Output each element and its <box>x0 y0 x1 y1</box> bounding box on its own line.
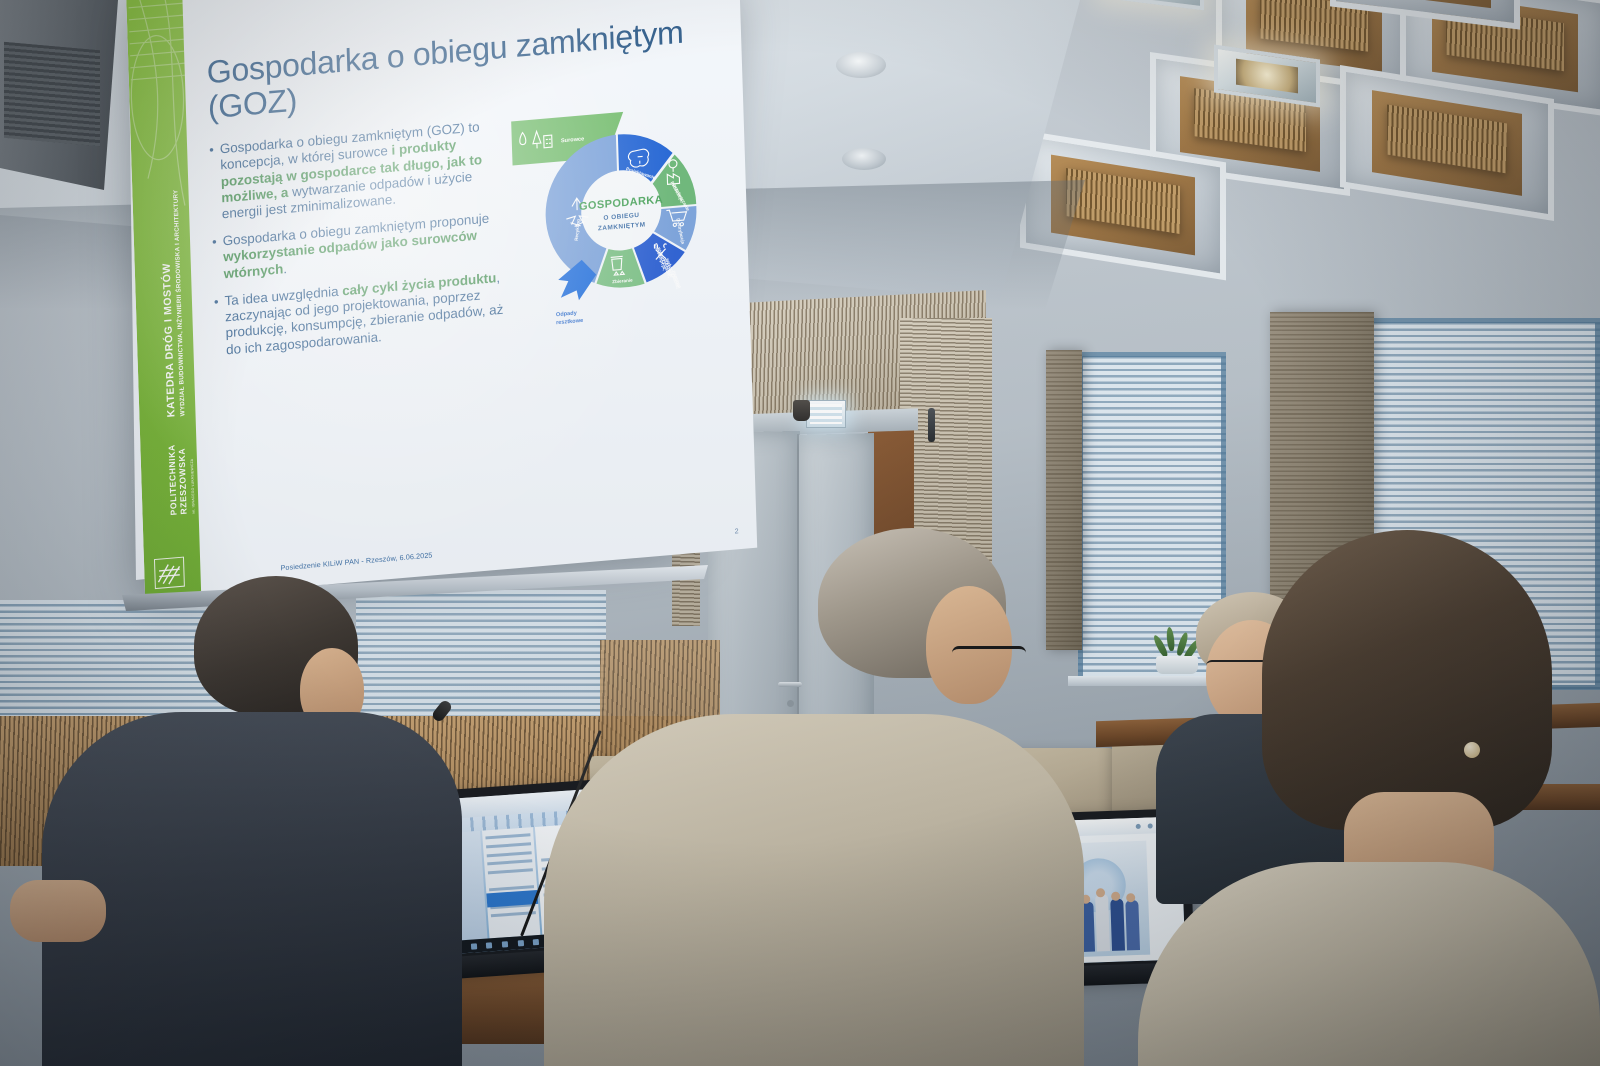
earring <box>1464 742 1480 758</box>
ceiling-beam <box>0 0 118 190</box>
label-odpady-1: Odpady <box>556 310 578 318</box>
mail-list-pane[interactable] <box>482 827 540 939</box>
torso <box>544 714 1084 1066</box>
bullet-1-text: Gospodarka o obiegu zamkniętym (GOZ) to … <box>220 117 512 223</box>
plant-pot <box>1156 656 1198 674</box>
head <box>926 586 1012 704</box>
slide-bullet-1: • Gospodarka o obiegu zamkniętym (GOZ) t… <box>209 117 512 224</box>
hand <box>10 880 106 942</box>
slide-bullet-3: • Ta idea uwzględnia cały cykl życia pro… <box>214 269 516 360</box>
goz-svg: Surowce <box>505 87 739 406</box>
door-seam <box>797 434 799 752</box>
ceiling-speaker-icon <box>836 52 886 78</box>
camera-icon <box>793 400 810 421</box>
ceiling-light <box>1100 0 1204 10</box>
ceiling-vent <box>4 42 100 146</box>
emergency-light-icon <box>806 400 846 428</box>
torso <box>42 712 462 1066</box>
door-lock-icon <box>787 700 794 707</box>
university-logo-icon <box>154 557 185 590</box>
conference-room-photo: KATEDRA DRÓG I MOSTÓW WYDZIAŁ BUDOWNICTW… <box>0 0 1600 1066</box>
ceiling-speaker-icon <box>842 148 886 170</box>
bullet-marker: • <box>214 294 221 359</box>
bullet-marker: • <box>212 234 218 283</box>
label-odpady-2: resztkowe <box>556 318 583 326</box>
bullet-marker: • <box>209 142 216 223</box>
door-handle[interactable] <box>778 682 802 687</box>
glasses-icon <box>952 646 1026 660</box>
slide-bullet-list: • Gospodarka o obiegu zamkniętym (GOZ) t… <box>209 117 516 359</box>
wall-sensor-icon <box>928 408 935 442</box>
hair <box>1262 530 1552 830</box>
vertical-blind-panel[interactable] <box>1046 350 1082 650</box>
goz-circular-diagram: Surowce <box>505 87 739 406</box>
sidebar-university: POLITECHNIKA RZESZOWSKA im. IGNACEGO ŁUK… <box>166 442 198 516</box>
slide-footer: Posiedzenie KILiW PAN - Rzeszów, 6.06.20… <box>280 550 432 572</box>
plant-icon <box>1155 624 1201 658</box>
presentation-slide: KATEDRA DRÓG I MOSTÓW WYDZIAŁ BUDOWNICTW… <box>126 0 757 600</box>
slide-body: Gospodarka o obiegu zamkniętym (GOZ) • G… <box>182 0 757 595</box>
slide-plane: KATEDRA DRÓG I MOSTÓW WYDZIAŁ BUDOWNICTW… <box>108 0 720 590</box>
bullet-3-text: Ta idea uwzględnia cały cykl życia produ… <box>224 269 515 359</box>
slide-page-number: 2 <box>735 528 739 535</box>
